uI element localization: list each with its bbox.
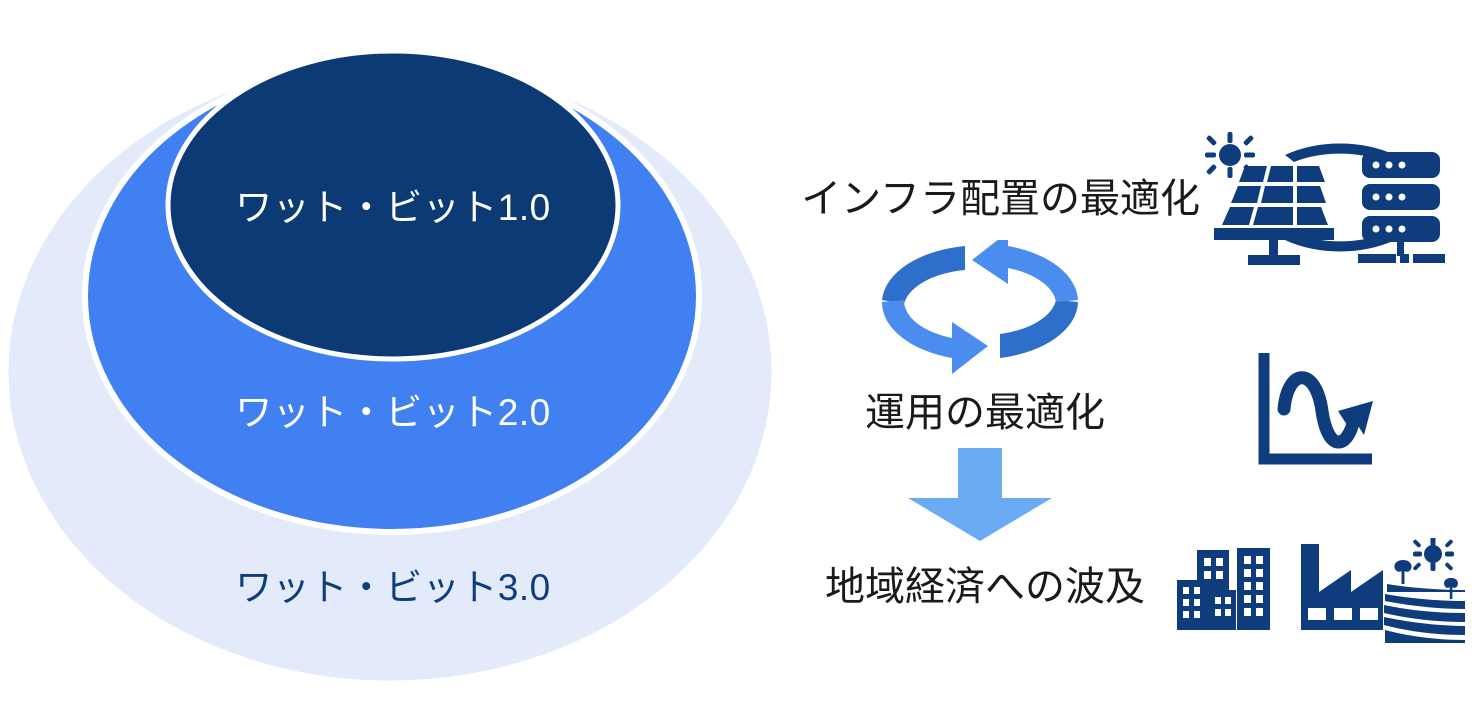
solar-panel-server-icon-svg xyxy=(1190,110,1460,280)
wave-chart-arrow-icon xyxy=(1250,345,1385,475)
wave-chart-arrow-icon-svg xyxy=(1250,345,1385,475)
circle-label-watt-bit-1: ワット・ビット1.0 xyxy=(235,187,550,228)
circle-label-watt-bit-3: ワット・ビット3.0 xyxy=(235,567,550,608)
flow-label-infrastructure: インフラ配置の最適化 xyxy=(801,179,1200,219)
city-factory-farm-icon xyxy=(1175,538,1465,643)
nested-circles-svg: ワット・ビット1.0 ワット・ビット2.0 ワット・ビット3.0 xyxy=(0,0,790,704)
optimization-flow-panel: インフラ配置の最適化 xyxy=(760,0,1484,704)
down-arrow-icon xyxy=(890,448,1070,543)
diagram-canvas: ワット・ビット1.0 ワット・ビット2.0 ワット・ビット3.0 インフラ配置の… xyxy=(0,0,1484,704)
flow-label-operations: 運用の最適化 xyxy=(865,393,1105,433)
city-factory-farm-icon-svg xyxy=(1175,538,1465,643)
solar-panel-server-icon xyxy=(1190,110,1460,280)
circle-label-watt-bit-2: ワット・ビット2.0 xyxy=(235,392,550,433)
circular-arrows-icon xyxy=(870,240,1090,380)
nested-circles-diagram: ワット・ビット1.0 ワット・ビット2.0 ワット・ビット3.0 xyxy=(0,0,790,704)
flow-row-operations: 運用の最適化 xyxy=(770,382,1200,444)
flow-label-local-economy: 地域経済への波及 xyxy=(825,567,1145,607)
flow-row-infrastructure: インフラ配置の最適化 xyxy=(770,168,1200,230)
circular-arrows-icon-svg xyxy=(870,240,1090,380)
down-arrow-icon-svg xyxy=(890,448,1070,543)
flow-row-local-economy: 地域経済への波及 xyxy=(770,556,1200,618)
